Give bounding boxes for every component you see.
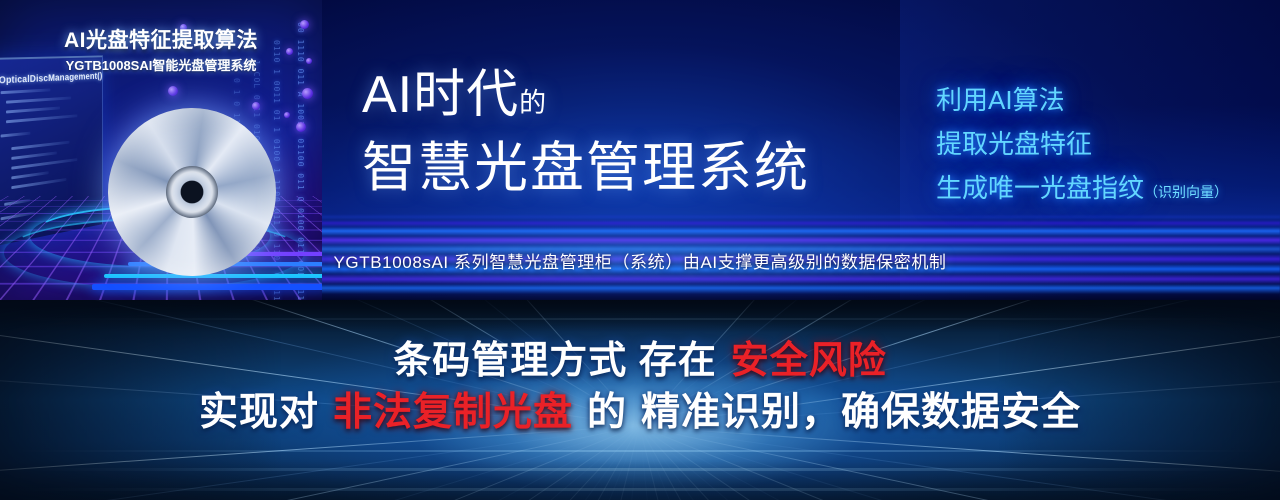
data-node-dot [168, 86, 178, 96]
subtitle-strip: YGTB1008sAI 系列智慧光盘管理柜（系统）由AI支撑更高级别的数据保密机… [0, 248, 1280, 273]
headline-main-text: AI时代 [362, 66, 519, 124]
headline-line-1: AI时代的 [362, 66, 810, 132]
bottom-headline-line-2: 实现对非法复制光盘的精准识别，确保数据安全 [0, 386, 1280, 440]
data-node-dot [302, 88, 313, 99]
data-node-dot [252, 102, 260, 110]
headline-suffix-text: 的 [519, 88, 547, 118]
feature-item: 生成唯一光盘指纹（识别向量） [936, 166, 1228, 214]
bottom-line1-highlight: 安全风险 [731, 340, 887, 382]
neon-streak [104, 274, 322, 278]
feature-list: 利用AI算法 提取光盘特征 生成唯一光盘指纹（识别向量） [936, 78, 1228, 214]
top-section: OpticalDiscManagement() 00 1110 011 A 10… [0, 0, 1280, 300]
bottom-line2-part2: 的 [587, 391, 627, 434]
product-card-subtitle: YGTB1008SAI智能光盘管理系统 [0, 55, 322, 74]
feature-item-label: 提取光盘特征 [936, 129, 1092, 159]
feature-item-label: 利用AI算法 [936, 85, 1065, 115]
feature-item: 提取光盘特征 [936, 122, 1228, 166]
feature-item-note: （识别向量） [1144, 184, 1228, 200]
bottom-line2-part3: 精准识别，确保数据安全 [641, 391, 1081, 434]
product-card-title: AI光盘特征提取算法 [0, 24, 322, 54]
bottom-line1-text: 条码管理方式 存在 [393, 340, 717, 382]
neon-streak [92, 284, 322, 290]
bottom-line2-part1: 实现对 [199, 391, 319, 434]
headline-line-2: 智慧光盘管理系统 [362, 136, 810, 200]
headline: AI时代的 智慧光盘管理系统 [362, 66, 810, 200]
promotional-banner: OpticalDiscManagement() 00 1110 011 A 10… [0, 0, 1280, 500]
data-node-dot [284, 112, 290, 118]
feature-item-label: 生成唯一光盘指纹 [936, 173, 1144, 203]
bottom-headline-block: 条码管理方式 存在安全风险 实现对非法复制光盘的精准识别，确保数据安全 [0, 336, 1280, 440]
feature-item: 利用AI算法 [936, 78, 1228, 122]
bottom-headline-line-1: 条码管理方式 存在安全风险 [0, 336, 1280, 386]
bottom-line2-highlight: 非法复制光盘 [333, 391, 573, 434]
data-node-dot [296, 122, 306, 132]
